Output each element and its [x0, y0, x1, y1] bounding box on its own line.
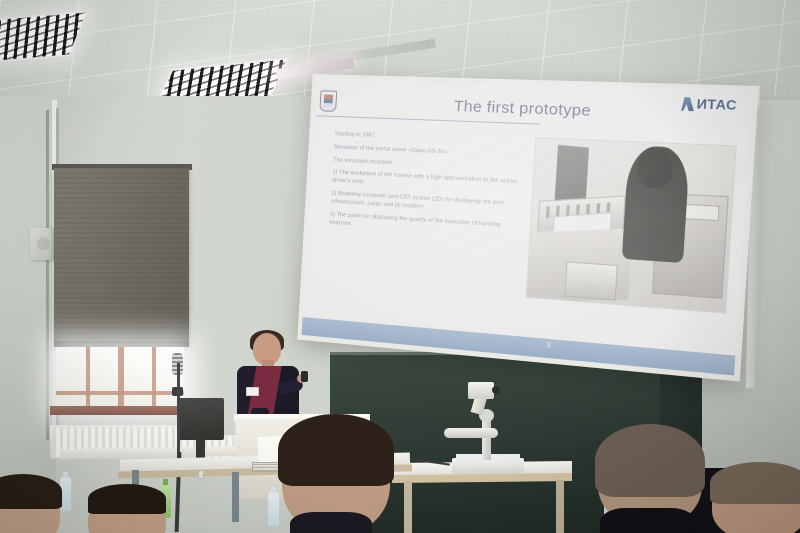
hair [0, 474, 62, 509]
table-leg [404, 481, 412, 533]
ohp-lens-icon [492, 386, 500, 394]
wall-switch[interactable] [198, 470, 204, 479]
photo-floor-unit [565, 261, 618, 300]
ohp-mirror-arm [444, 428, 498, 438]
overhead-projector[interactable] [452, 382, 524, 474]
window-mullion [118, 347, 124, 409]
table-leg [556, 480, 564, 533]
slide-body: Starting in 1967 Simulator of the portal… [303, 124, 750, 355]
audience-head [0, 478, 60, 533]
projection-screen: The first prototype ИТАС Starting in 196… [297, 74, 758, 382]
audience-head [282, 420, 390, 533]
itas-chevron-icon [681, 97, 695, 112]
ohp-head [468, 382, 494, 399]
presentation-remote[interactable] [301, 371, 308, 382]
roller-blind[interactable] [54, 168, 189, 344]
hair [710, 462, 800, 504]
hair [278, 414, 394, 486]
presenter-monitor [178, 398, 224, 440]
water-bottle [268, 492, 279, 526]
shoulders [290, 512, 372, 533]
hair [88, 484, 166, 514]
slide-image-column [521, 133, 750, 356]
slide-title: The first prototype [453, 97, 591, 120]
photo-operator-head [637, 147, 674, 188]
table-leg [232, 472, 239, 522]
coat-of-arms-emblem-icon [319, 90, 337, 112]
itas-logo: ИТАС [681, 96, 737, 113]
crane-simulator-photo [525, 137, 737, 313]
window [56, 347, 184, 409]
window-mullion [86, 347, 90, 409]
audience-head [712, 470, 800, 533]
lecture-hall-photo: The first prototype ИТАС Starting in 196… [0, 0, 800, 533]
slide-text-column: Starting in 1967 Simulator of the portal… [303, 124, 533, 336]
window-transom [56, 391, 184, 395]
name-badge [246, 387, 259, 396]
slide-page-number: 3 [546, 342, 551, 350]
window-mullion [152, 347, 156, 409]
hair [595, 424, 705, 497]
shoulders [600, 508, 696, 533]
blind-guide-rod [46, 110, 49, 440]
logo-text: ИТАС [696, 96, 737, 113]
window-sill [50, 406, 190, 415]
wall-mounted-speaker [30, 228, 56, 260]
audience-head [88, 490, 166, 533]
presentation-slide: The first prototype ИТАС Starting in 196… [301, 78, 752, 375]
audience-head [598, 430, 702, 526]
